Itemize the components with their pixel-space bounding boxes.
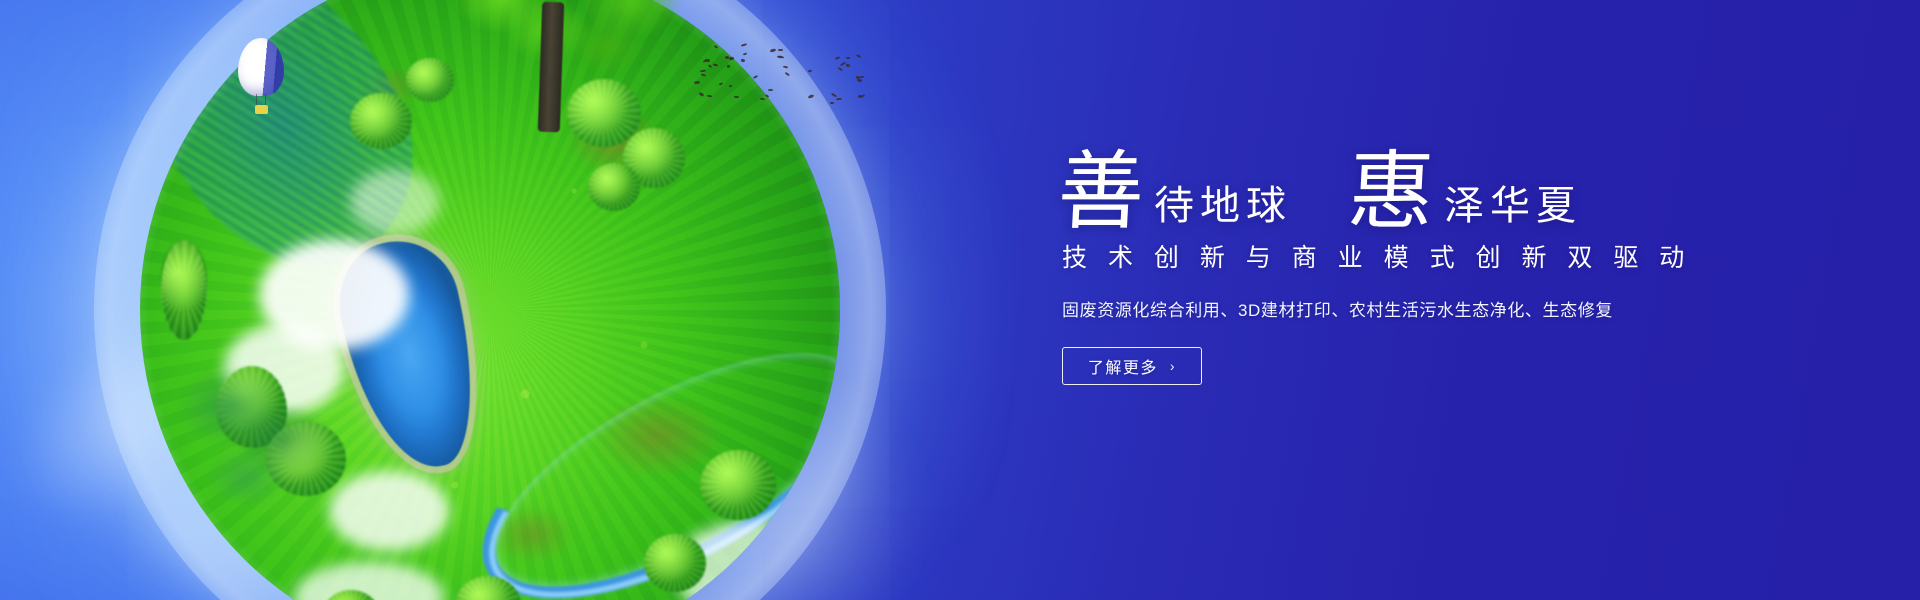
bird-icon bbox=[807, 70, 811, 73]
learn-more-button[interactable]: 了解更多 › bbox=[1062, 347, 1202, 385]
bird-icon bbox=[726, 65, 730, 69]
bird-icon bbox=[768, 89, 773, 91]
learn-more-label: 了解更多 bbox=[1088, 354, 1158, 378]
bird-icon bbox=[808, 94, 814, 99]
banner-copy: 善 待地球 惠 泽华夏 技 术 创 新 与 商 业 模 式 创 新 双 驱 动 … bbox=[1058, 128, 1798, 385]
bird-icon bbox=[702, 59, 706, 63]
bird-icon bbox=[694, 80, 700, 84]
bird-icon bbox=[714, 45, 719, 49]
balloon-basket bbox=[255, 105, 268, 114]
bird-icon bbox=[708, 64, 712, 68]
bird-icon bbox=[707, 95, 712, 98]
bird-icon bbox=[734, 96, 739, 98]
tree-canopy bbox=[700, 450, 776, 520]
headline-rest-2: 泽华夏 bbox=[1444, 186, 1582, 226]
bird-icon bbox=[760, 97, 766, 100]
bird-icon bbox=[718, 83, 722, 86]
bird-icon bbox=[701, 73, 706, 76]
bird-icon bbox=[838, 67, 843, 71]
bird-icon bbox=[778, 49, 783, 52]
bird-icon bbox=[741, 43, 747, 47]
foreground-tree-silhouette bbox=[150, 330, 350, 540]
bird-icon bbox=[830, 101, 834, 103]
tree-canopy bbox=[350, 93, 412, 149]
bird-icon bbox=[740, 58, 744, 61]
chevron-right-icon: › bbox=[1170, 358, 1176, 374]
balloon-envelope bbox=[238, 38, 284, 96]
bird-icon bbox=[699, 92, 705, 97]
bird-icon bbox=[846, 57, 850, 60]
bird-icon bbox=[769, 48, 775, 53]
bird-icon bbox=[753, 75, 758, 79]
bird-icon bbox=[831, 93, 837, 98]
tree-canopy bbox=[644, 534, 706, 592]
bird-icon bbox=[861, 94, 865, 98]
bird-flock bbox=[690, 42, 865, 104]
banner-description: 固废资源化综合利用、3D建材打印、农村生活污水生态净化、生态修复 bbox=[1062, 296, 1798, 321]
surface-cloud bbox=[350, 170, 440, 234]
hot-air-balloon-icon bbox=[238, 38, 284, 116]
banner-subtitle: 技 术 创 新 与 商 业 模 式 创 新 双 驱 动 bbox=[1062, 238, 1798, 274]
bird-icon bbox=[856, 54, 861, 58]
bird-icon bbox=[729, 57, 735, 61]
headline: 善 待地球 惠 泽华夏 bbox=[1058, 128, 1798, 232]
bird-icon bbox=[713, 63, 717, 66]
bird-icon bbox=[729, 85, 733, 88]
bird-icon bbox=[785, 72, 790, 76]
tree-canopy bbox=[588, 163, 640, 211]
headline-char-2: 惠 bbox=[1346, 153, 1436, 232]
bird-icon bbox=[783, 66, 788, 69]
bird-icon bbox=[835, 56, 841, 60]
bird-icon bbox=[742, 53, 746, 56]
headline-rest-1: 待地球 bbox=[1154, 186, 1292, 226]
bird-icon bbox=[845, 64, 850, 68]
tree-canopy bbox=[161, 240, 207, 340]
bird-icon bbox=[700, 70, 706, 73]
bird-icon bbox=[765, 94, 770, 98]
tree-trunk bbox=[538, 2, 565, 133]
headline-char-1: 善 bbox=[1056, 153, 1146, 232]
foreground-tree bbox=[436, 0, 686, 132]
bird-icon bbox=[836, 98, 842, 100]
hero-banner: 善 待地球 惠 泽华夏 技 术 创 新 与 商 业 模 式 创 新 双 驱 动 … bbox=[0, 0, 1920, 600]
